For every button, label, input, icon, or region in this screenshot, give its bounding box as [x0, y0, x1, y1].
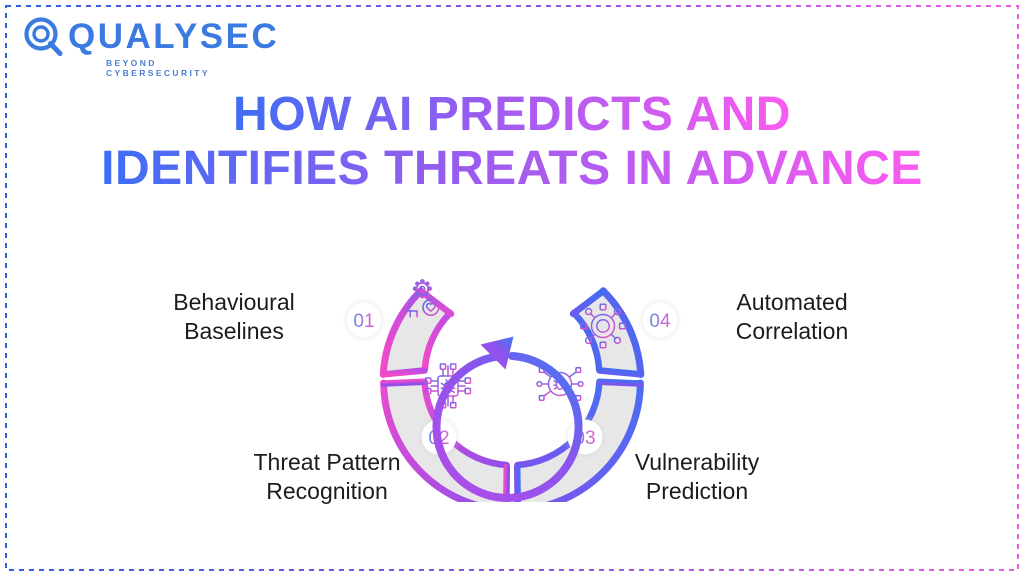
- label-automated-correlation: Automated Correlation: [668, 288, 916, 346]
- label-line-1: Behavioural: [110, 288, 358, 317]
- magnifier-q-icon: [22, 16, 66, 60]
- label-line-2: Recognition: [198, 477, 456, 506]
- page-title: HOW AI PREDICTS AND IDENTIFIES THREATS I…: [0, 88, 1024, 200]
- title-line-2: IDENTIFIES THREATS IN ADVANCE: [101, 142, 923, 195]
- label-vulnerability-prediction: Vulnerability Prediction: [568, 448, 826, 506]
- infographic-canvas: QUALYSEC BEYOND CYBERSECURITY HOW AI PRE…: [0, 0, 1024, 576]
- label-line-1: Threat Pattern: [198, 448, 456, 477]
- title-line-1: HOW AI PREDICTS AND: [233, 88, 791, 141]
- label-line-1: Automated: [668, 288, 916, 317]
- label-threat-pattern-recognition: Threat Pattern Recognition: [198, 448, 456, 506]
- label-behavioural-baselines: Behavioural Baselines: [110, 288, 358, 346]
- brand-tagline: BEYOND CYBERSECURITY: [106, 58, 254, 78]
- brand-logo[interactable]: QUALYSEC BEYOND CYBERSECURITY: [22, 16, 254, 72]
- label-line-2: Correlation: [668, 317, 916, 346]
- segment-01[interactable]: 01: [342, 280, 512, 382]
- label-line-1: Vulnerability: [568, 448, 826, 477]
- segment-04[interactable]: 04: [573, 291, 682, 375]
- brand-name: QUALYSEC: [68, 18, 279, 56]
- label-line-2: Prediction: [568, 477, 826, 506]
- label-line-2: Baselines: [110, 317, 358, 346]
